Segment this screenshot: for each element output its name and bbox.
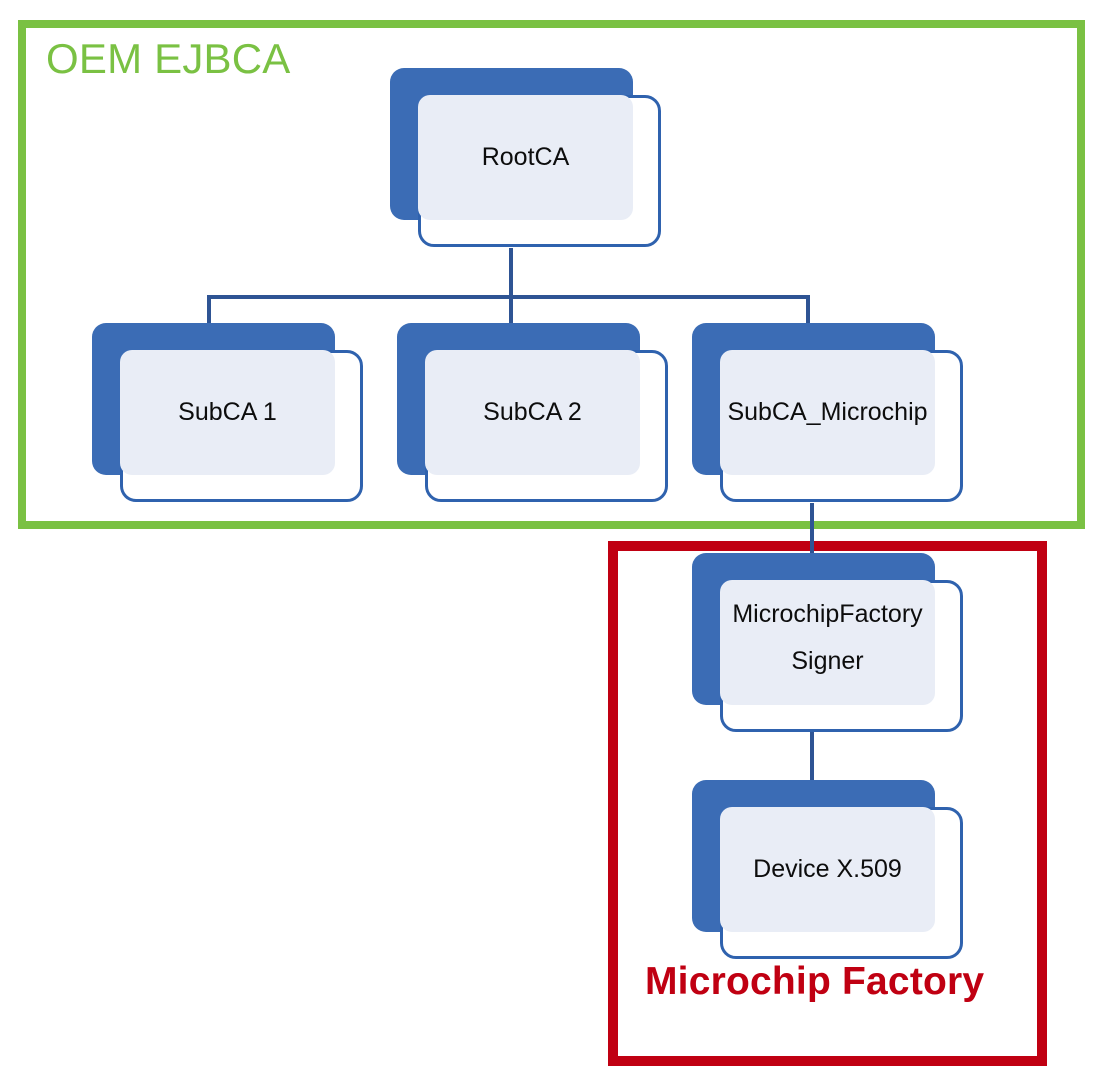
node-device-x509-label: Device X.509 (720, 807, 935, 932)
node-rootca-label: RootCA (418, 95, 633, 220)
diagram-canvas: OEM EJBCA RootCA SubCA 1 SubCA 2 (0, 0, 1102, 1080)
node-subca-2-label: SubCA 2 (425, 350, 640, 475)
node-subca-1-label: SubCA 1 (120, 350, 335, 475)
node-subca-microchip-label: SubCA_Microchip (712, 350, 943, 475)
zone-oem-ejbca-label: OEM EJBCA (46, 38, 291, 80)
zone-microchip-factory-label: Microchip Factory (645, 962, 984, 1001)
node-microchip-factory-signer-label: MicrochipFactory Signer (720, 575, 935, 700)
